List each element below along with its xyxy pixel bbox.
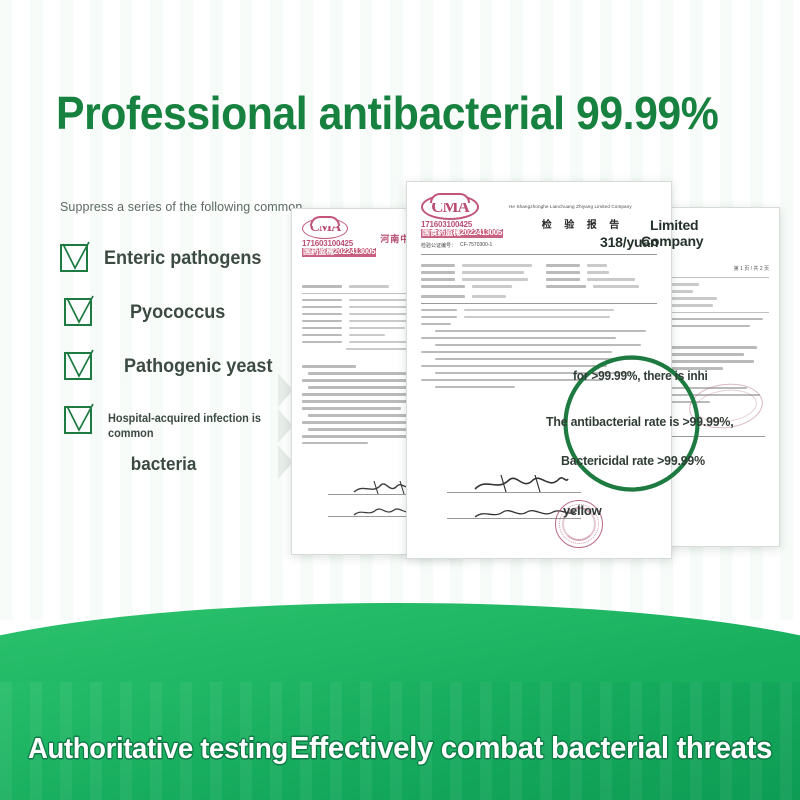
suppress-note: Suppress a series of the following commo…: [60, 200, 302, 214]
list-item-label-line1: Hospital-acquired infection is common: [108, 413, 261, 440]
accreditation-value: CF-7570300-1: [460, 242, 492, 248]
list-item[interactable]: Enteric pathogens: [60, 244, 300, 272]
bottom-banner-text: Authoritative testingEffectively combat …: [20, 730, 780, 766]
suppressed-pathogen-list: Enteric pathogens Pyococcus Pathogenic y…: [60, 244, 300, 503]
page-title: Professional antibacterial 99.99%: [56, 86, 718, 140]
stamp-overlay-word: yellow: [563, 503, 602, 518]
list-item[interactable]: Hospital-acquired infection is common ba…: [64, 406, 300, 477]
checkbox-checked-icon[interactable]: [64, 406, 92, 434]
checkbox-checked-icon[interactable]: [64, 298, 92, 326]
list-item[interactable]: Pathogenic yeast: [64, 352, 300, 380]
cma-logo-icon: CMA: [302, 218, 348, 239]
list-item-label: Hospital-acquired infection is common ba…: [108, 406, 290, 477]
banner-text-segment-1: Authoritative testing: [28, 733, 288, 765]
issuing-company-name: He Shangzhonghe Lianchuang Zhiyang Limit…: [509, 204, 657, 209]
cma-code: 171603100425 国药监械2022413005: [302, 240, 376, 257]
checkbox-checked-icon[interactable]: [60, 244, 88, 272]
annotation-text-middle: The antibacterial rate is >99.99%,: [546, 414, 733, 429]
bottom-green-wave: [0, 585, 800, 800]
list-item-label-line2: bacteria: [131, 451, 291, 477]
accreditation-label: 检验公证编号：: [421, 242, 456, 249]
cma-code: 171603100425 国食药监械2022413005: [421, 221, 503, 238]
annotation-text-top: for >99.99%, there is inhi: [573, 369, 708, 383]
label-price: 318/yuan: [600, 234, 658, 250]
annotation-text-bottom: Bactericidal rate >99.99%: [561, 453, 705, 468]
banner-text-segment-2: Effectively combat bacterial threats: [290, 730, 772, 765]
list-item-label: Pathogenic yeast: [124, 352, 272, 380]
checkbox-checked-icon[interactable]: [64, 352, 92, 380]
list-item-label: Enteric pathogens: [104, 244, 261, 272]
list-item[interactable]: Pyococcus: [64, 298, 300, 326]
cma-logo-icon: CMA: [421, 194, 479, 220]
label-limited: Limited: [650, 217, 698, 233]
document-title: 检 验 报 告: [509, 216, 657, 231]
list-item-label: Pyococcus: [130, 298, 225, 326]
